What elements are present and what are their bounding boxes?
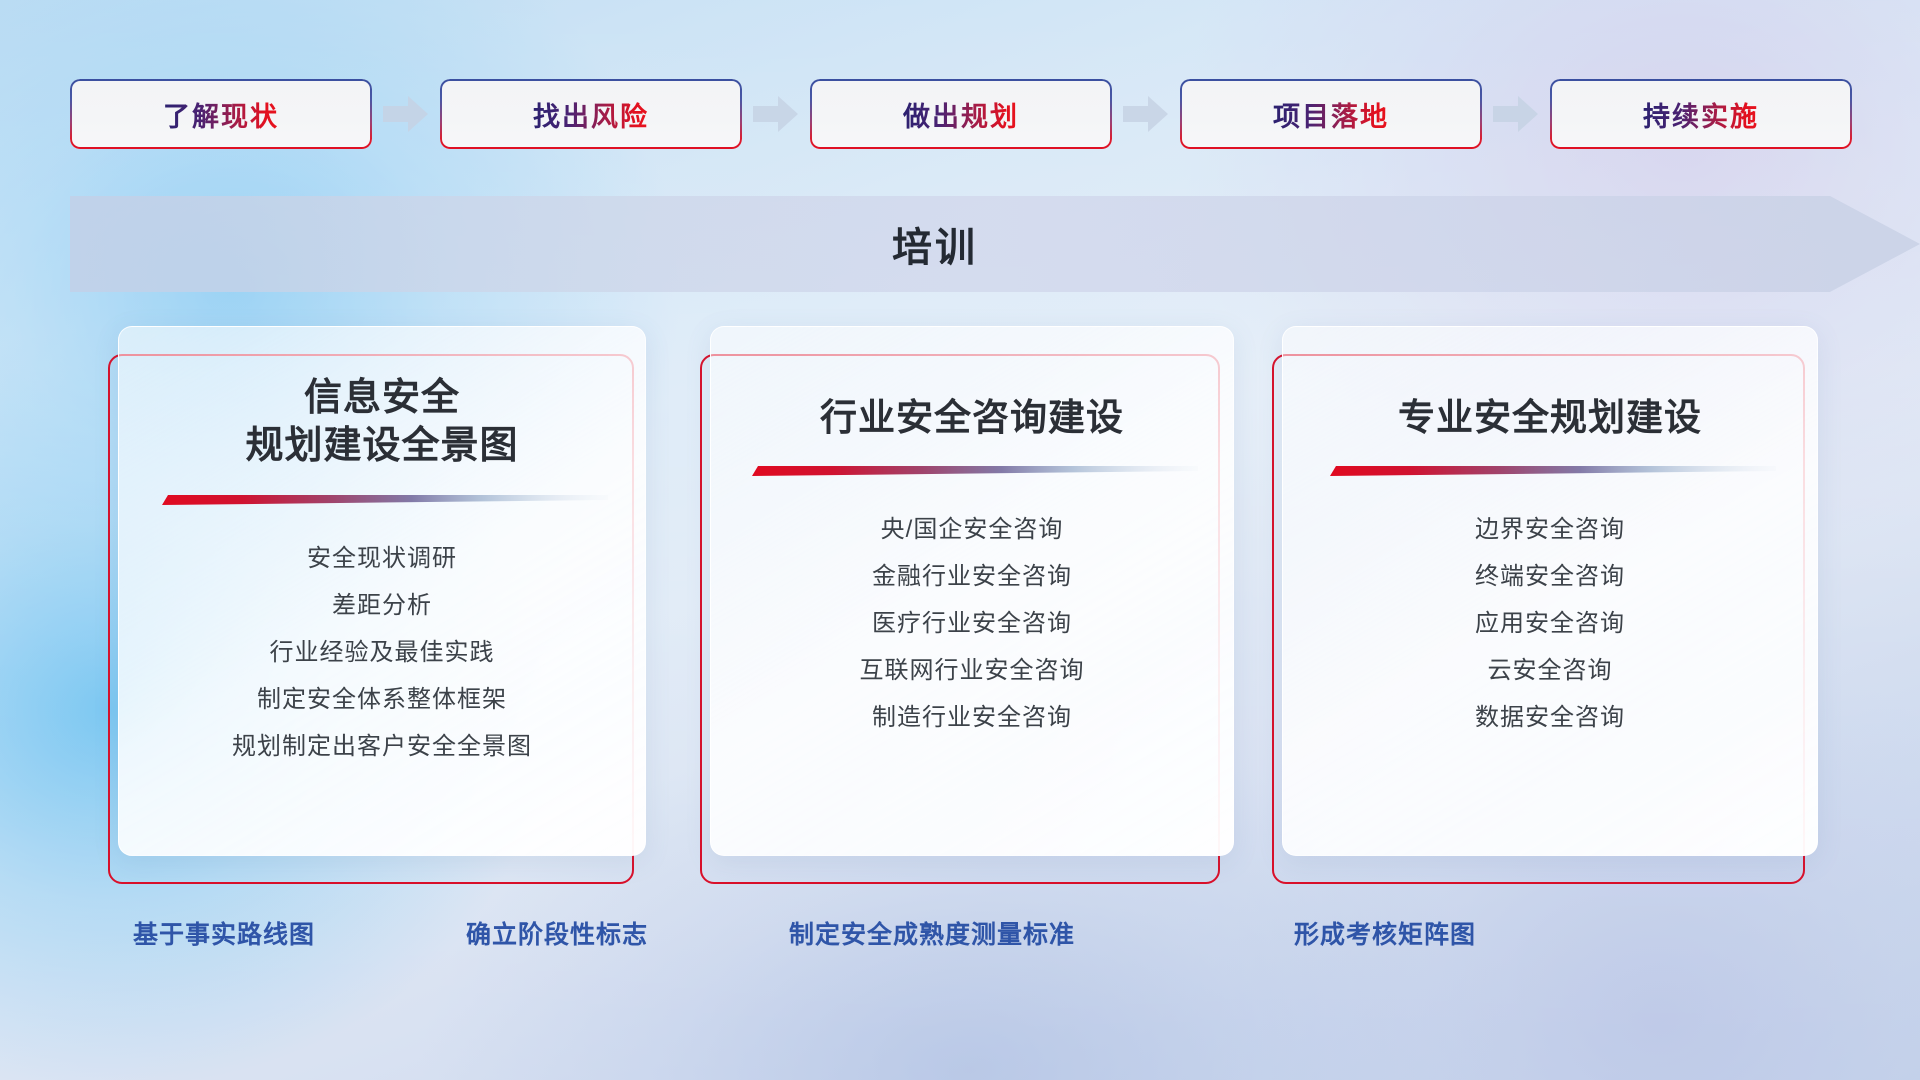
- card-list-item: 医疗行业安全咨询: [872, 606, 1072, 642]
- card-title: 专业安全规划建设: [1283, 395, 1817, 442]
- footer-label-row: 基于事实路线图 确立阶段性标志 制定安全成熟度测量标准 形成考核矩阵图: [0, 915, 1920, 965]
- process-step-label: 项目落地: [1273, 95, 1389, 134]
- card-2[interactable]: 行业安全咨询建设: [700, 326, 1240, 886]
- card-list-item: 边界安全咨询: [1475, 512, 1625, 548]
- card-list-item: 安全现状调研: [307, 541, 457, 577]
- card-panel: 专业安全规划建设: [1282, 326, 1818, 856]
- chevron-right-arrow-icon: [372, 79, 440, 149]
- footer-label-3: 制定安全成熟度测量标准: [789, 915, 1075, 951]
- card-1[interactable]: 信息安全 规划建设全景图: [108, 326, 648, 886]
- process-step-5[interactable]: 持续实施: [1550, 79, 1852, 149]
- training-banner: 培训: [0, 196, 1920, 292]
- chevron-right-arrow-icon: [1482, 79, 1550, 149]
- chevron-right-arrow-icon: [1112, 79, 1180, 149]
- card-list-item: 互联网行业安全咨询: [860, 653, 1085, 689]
- process-step-2[interactable]: 找出风险: [440, 79, 742, 149]
- card-list-item: 行业经验及最佳实践: [270, 635, 495, 671]
- card-title: 行业安全咨询建设: [711, 395, 1233, 442]
- card-list-item: 央/国企安全咨询: [881, 512, 1064, 548]
- card-divider: [1324, 464, 1776, 478]
- card-panel: 信息安全 规划建设全景图: [118, 326, 646, 856]
- process-step-label: 持续实施: [1643, 95, 1759, 134]
- process-step-label: 做出规划: [903, 95, 1019, 134]
- card-item-list: 央/国企安全咨询 金融行业安全咨询 医疗行业安全咨询 互联网行业安全咨询 制造行…: [711, 512, 1233, 736]
- card-3[interactable]: 专业安全规划建设: [1272, 326, 1812, 886]
- footer-label-4: 形成考核矩阵图: [1294, 915, 1476, 951]
- process-step-1[interactable]: 了解现状: [70, 79, 372, 149]
- chevron-right-arrow-icon: [742, 79, 810, 149]
- process-step-label: 了解现状: [163, 95, 279, 134]
- footer-label-2: 确立阶段性标志: [466, 915, 648, 951]
- card-list-item: 终端安全咨询: [1475, 559, 1625, 595]
- card-list-item: 制定安全体系整体框架: [257, 682, 507, 718]
- banner-title: 培训: [0, 196, 1870, 292]
- process-step-label: 找出风险: [533, 95, 649, 134]
- card-divider: [746, 464, 1198, 478]
- card-row: 信息安全 规划建设全景图: [0, 326, 1920, 886]
- footer-label-1: 基于事实路线图: [133, 915, 315, 951]
- card-item-list: 边界安全咨询 终端安全咨询 应用安全咨询 云安全咨询 数据安全咨询: [1283, 512, 1817, 736]
- slide-canvas: 了解现状 找出风险 做出规划 项目落地: [0, 0, 1920, 1080]
- process-step-row: 了解现状 找出风险 做出规划 项目落地: [70, 78, 1860, 150]
- card-divider: [156, 493, 608, 507]
- process-step-3[interactable]: 做出规划: [810, 79, 1112, 149]
- card-panel: 行业安全咨询建设: [710, 326, 1234, 856]
- card-list-item: 应用安全咨询: [1475, 606, 1625, 642]
- card-list-item: 数据安全咨询: [1475, 700, 1625, 736]
- card-list-item: 规划制定出客户安全全景图: [232, 729, 532, 765]
- card-list-item: 差距分析: [332, 588, 432, 624]
- card-list-item: 金融行业安全咨询: [872, 559, 1072, 595]
- process-step-4[interactable]: 项目落地: [1180, 79, 1482, 149]
- card-list-item: 云安全咨询: [1488, 653, 1613, 689]
- card-title: 信息安全 规划建设全景图: [119, 375, 645, 471]
- card-item-list: 安全现状调研 差距分析 行业经验及最佳实践 制定安全体系整体框架 规划制定出客户…: [119, 541, 645, 765]
- card-list-item: 制造行业安全咨询: [872, 700, 1072, 736]
